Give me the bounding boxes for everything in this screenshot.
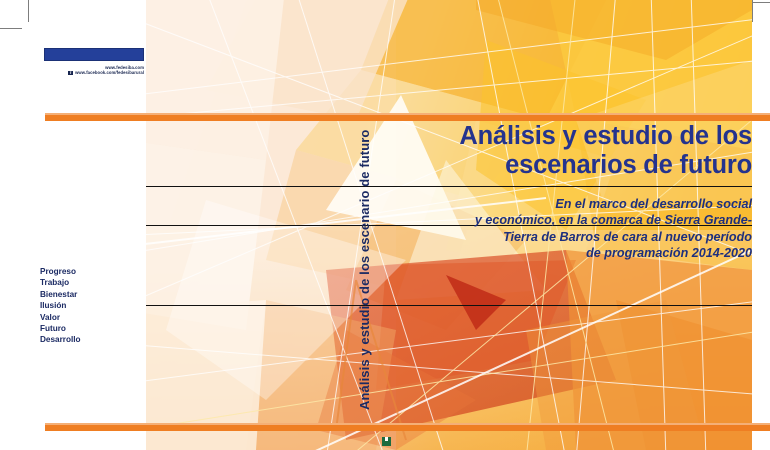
band-sheen	[45, 423, 770, 425]
cover-subtitle-line: de programación 2014-2020	[402, 245, 752, 261]
cover-subtitle: En el marco del desarrollo social y econ…	[402, 196, 752, 262]
cover-title: Análisis y estudio de los escenarios de …	[404, 122, 752, 179]
values-list: Progreso Trabajo Bienestar Ilusión Valor…	[40, 266, 81, 346]
facebook-url[interactable]: www.facebook.com/fedesibarural	[75, 70, 144, 75]
fedesiba-logo-bar	[44, 48, 144, 61]
value-item: Bienestar	[40, 289, 81, 300]
contact-links: www.fedesiba.com f www.facebook.com/fede…	[44, 65, 144, 76]
cover-subtitle-line: y económico, en la comarca de Sierra Gra…	[402, 212, 752, 228]
band-sheen	[45, 113, 770, 115]
value-item: Progreso	[40, 266, 81, 277]
crop-mark-top-left-v	[28, 0, 29, 22]
cover-page: www.fedesiba.com f www.facebook.com/fede…	[0, 0, 770, 450]
facebook-row: f www.facebook.com/fedesibarural	[44, 70, 144, 75]
footer-green-mark	[382, 437, 391, 446]
spine: Análisis y estudio de los escenario de f…	[372, 110, 398, 410]
cover-title-line: escenarios de futuro	[404, 151, 752, 180]
back-cover-rule-3	[146, 305, 752, 306]
value-item: Valor	[40, 312, 81, 323]
crop-mark-top-left-h	[0, 28, 22, 29]
bottom-orange-band	[45, 423, 770, 431]
crop-mark-top-right-v	[752, 0, 753, 22]
value-item: Trabajo	[40, 277, 81, 288]
facebook-icon: f	[68, 71, 73, 76]
cover-subtitle-line: En el marco del desarrollo social	[402, 196, 752, 212]
cover-subtitle-line: Tierra de Barros de cara al nuevo períod…	[402, 229, 752, 245]
logo-block: www.fedesiba.com f www.facebook.com/fede…	[44, 48, 144, 76]
back-cover-rule-1	[146, 186, 752, 187]
spine-title: Análisis y estudio de los escenario de f…	[357, 130, 372, 410]
top-orange-band	[45, 113, 770, 121]
value-item: Desarrollo	[40, 334, 81, 345]
value-item: Ilusión	[40, 300, 81, 311]
cover-title-line: Análisis y estudio de los	[404, 122, 752, 151]
value-item: Futuro	[40, 323, 81, 334]
